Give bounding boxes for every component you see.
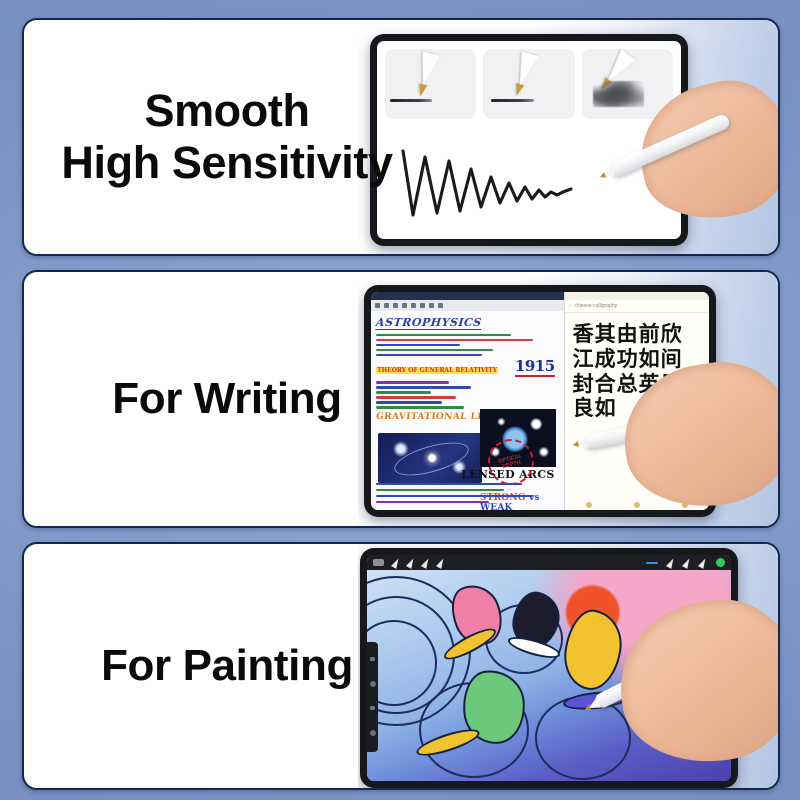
status-bar	[565, 292, 709, 300]
brush-style-icon[interactable]	[586, 502, 592, 508]
caption-line-2: High Sensitivity	[61, 137, 392, 189]
ink-density-icon[interactable]	[634, 502, 640, 508]
surfer-figure	[560, 606, 627, 693]
smudge-icon[interactable]	[682, 557, 692, 569]
blend-icon[interactable]	[698, 557, 708, 569]
stylus-nib-icon	[511, 51, 539, 89]
nib-thumb-thin-line-tilted	[483, 49, 574, 119]
caption-line-1: For Writing	[112, 373, 341, 424]
caption-line-1: Smooth	[144, 85, 309, 137]
feature-card-smooth-high-sensitivity: Smooth High Sensitivity	[22, 18, 780, 256]
calligraphy-app-header[interactable]: ‹ chinese-calligraphy	[565, 300, 709, 313]
calligraphy-line: 江成功如间	[573, 347, 697, 372]
thin-stroke-line	[491, 99, 535, 102]
zigzag-stroke-drawing	[399, 137, 609, 221]
nib-thumb-shading-smudge	[582, 49, 673, 119]
pencil-shading-smudge	[593, 81, 644, 107]
redo-icon[interactable]	[438, 303, 443, 308]
caption-line-1: For Painting	[101, 640, 353, 691]
feature-card-for-writing: For Writing	[22, 270, 780, 528]
calligraphy-doc-title: chinese-calligraphy	[574, 303, 617, 309]
feature-caption-painting: For Painting	[24, 544, 424, 788]
feature-caption-smooth: Smooth High Sensitivity	[24, 20, 424, 254]
eraser-icon[interactable]	[666, 557, 676, 569]
brush-icon[interactable]	[436, 557, 446, 569]
active-stroke-indicator[interactable]	[646, 562, 658, 564]
undo-icon[interactable]	[429, 303, 434, 308]
notes-year-badge: 1915	[515, 357, 555, 377]
color-swatch[interactable]	[716, 558, 725, 567]
feature-caption-writing: For Writing	[24, 272, 424, 526]
product-feature-collage: Smooth High Sensitivity	[0, 0, 800, 800]
footer-weak-label: WEAK	[480, 503, 513, 510]
toolbar-right-group	[646, 558, 725, 568]
feature-card-for-painting: For Painting	[22, 542, 780, 790]
back-chevron-icon[interactable]: ‹	[570, 303, 572, 309]
calligraphy-line: 香其由前欣	[573, 322, 697, 347]
nib-thumbnail-strip	[385, 49, 673, 119]
